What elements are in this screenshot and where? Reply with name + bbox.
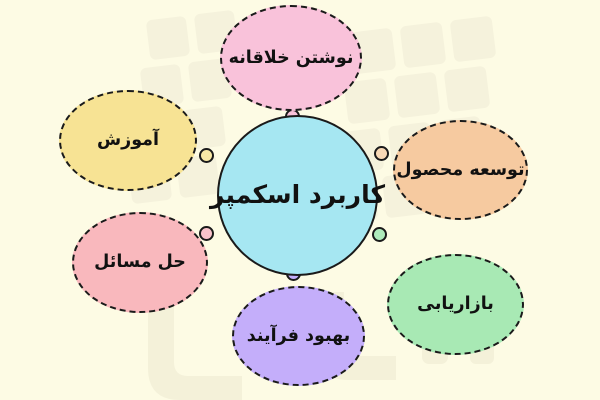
branch-node-product-development[interactable]: توسعه محصول — [393, 120, 528, 220]
branch-node-process-improvement[interactable]: بهبود فرآیند — [232, 286, 365, 386]
branch-label-education: آموزش — [97, 130, 159, 150]
branch-label-creative-writing: نوشتن خلاقانه — [229, 48, 354, 68]
branch-node-marketing[interactable]: بازاریابی — [387, 254, 524, 355]
branch-label-problem-solving: حل مسائل — [94, 252, 186, 272]
branch-label-process-improvement: بهبود فرآیند — [247, 326, 350, 346]
branch-label-marketing: بازاریابی — [417, 294, 494, 314]
connector-dot-product-development — [374, 146, 389, 161]
connector-dot-education — [199, 148, 214, 163]
branch-node-creative-writing[interactable]: نوشتن خلاقانه — [220, 5, 362, 111]
central-node-scamper-application[interactable]: کاربرد اسکمپر — [217, 115, 378, 276]
connector-dot-problem-solving — [199, 226, 214, 241]
mind-map-canvas: نوشتن خلاقانه توسعه محصول بازاریابی بهبو… — [0, 0, 600, 400]
connector-dot-marketing — [372, 227, 387, 242]
central-node-label: کاربرد اسکمپر — [210, 181, 385, 210]
branch-node-problem-solving[interactable]: حل مسائل — [72, 212, 208, 313]
branch-node-education[interactable]: آموزش — [59, 90, 197, 191]
branch-label-product-development: توسعه محصول — [396, 160, 524, 180]
